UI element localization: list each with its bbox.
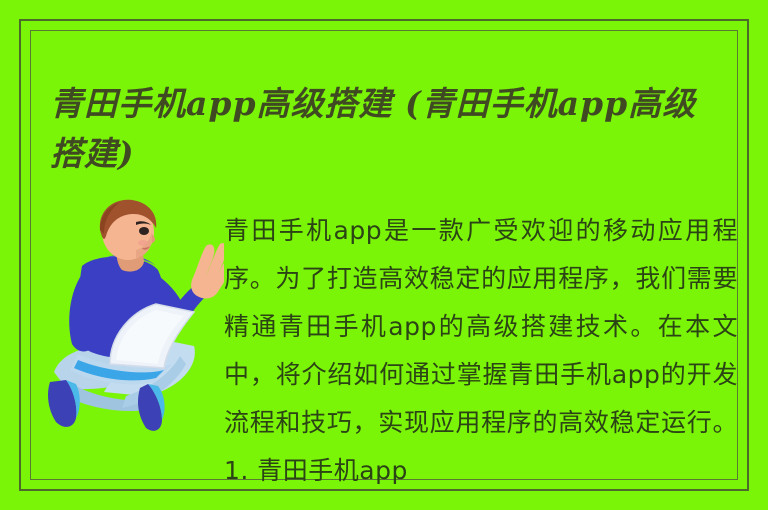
cheek-blush — [138, 240, 148, 246]
page-title: 青田手机app高级搭建 (青田手机app高级搭建) — [50, 79, 730, 179]
eye-shape — [139, 227, 149, 235]
hero-illustration — [44, 196, 224, 432]
hand-waving — [191, 243, 224, 298]
article-body-text: 青田手机app是一款广受欢迎的移动应用程序。为了打造高效稳定的应用程序，我们需要… — [224, 207, 738, 495]
poster-canvas: 青田手机app高级搭建 (青田手机app高级搭建) — [0, 0, 768, 510]
